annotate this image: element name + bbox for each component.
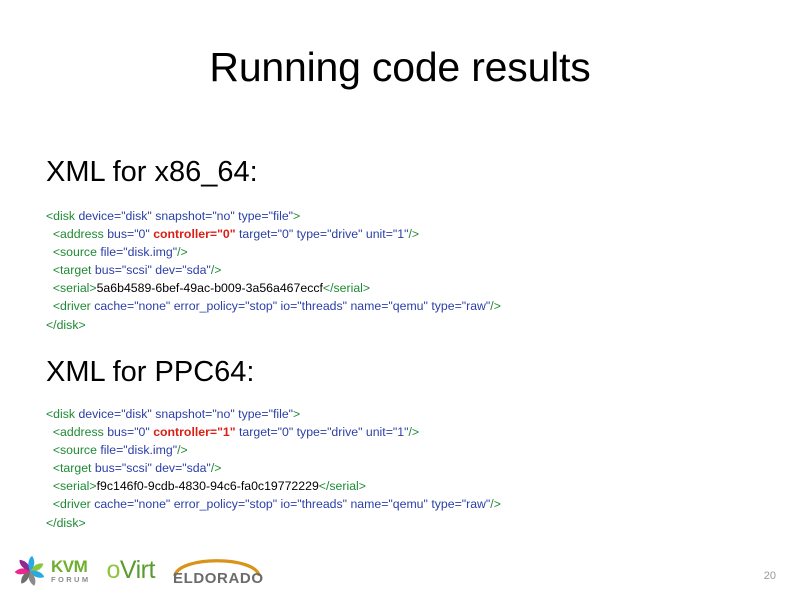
code-token-val: ="drive"	[320, 425, 366, 439]
ovirt-o-letter: o	[107, 556, 120, 584]
code-token-tag: <address	[46, 425, 107, 439]
code-token-tag: />	[490, 299, 501, 313]
kvm-forum-logo: KVM FORUM	[12, 553, 91, 589]
code-token-tag: />	[177, 443, 188, 457]
code-token-tag: <serial>	[46, 479, 97, 493]
code-token-tag: />	[408, 425, 419, 439]
code-token-attr: snapshot	[155, 209, 205, 223]
code-token-attr: name	[350, 299, 381, 313]
code-token-attr: bus	[107, 425, 127, 439]
code-token-attr: type	[238, 407, 261, 421]
code-token-attr: type	[297, 227, 320, 241]
code-token-val: ="0"	[127, 227, 153, 241]
eldorado-logo: ELDORADO	[171, 554, 263, 588]
forum-label: FORUM	[51, 576, 91, 584]
code-token-tag: </disk>	[46, 516, 86, 530]
code-token-attr: target	[239, 227, 270, 241]
code-line: </disk>	[46, 316, 501, 334]
kvm-label: KVM	[51, 558, 91, 575]
page-number: 20	[764, 570, 776, 582]
code-token-attr: file	[100, 245, 116, 259]
code-token-val: ="qemu"	[381, 497, 431, 511]
code-line: <source file="disk.img"/>	[46, 243, 501, 261]
code-line: <source file="disk.img"/>	[46, 441, 501, 459]
code-token-val: ="drive"	[320, 227, 366, 241]
code-token-tag: <driver	[46, 497, 94, 511]
code-line: <address bus="0" controller="1" target="…	[46, 423, 501, 441]
code-line: </disk>	[46, 514, 501, 532]
code-token-attr: type	[431, 299, 454, 313]
code-token-val: ="sda"	[175, 263, 211, 277]
code-token-val: ="disk"	[114, 407, 155, 421]
code-token-tag: />	[211, 263, 222, 277]
code-line: <target bus="scsi" dev="sda"/>	[46, 459, 501, 477]
code-token-val: ="sda"	[175, 461, 211, 475]
code-line: <address bus="0" controller="0" target="…	[46, 225, 501, 243]
code-token-attr: dev	[155, 461, 175, 475]
code-token-attr: unit	[366, 425, 386, 439]
code-token-val: ="none"	[127, 497, 174, 511]
code-token-attr: type	[431, 497, 454, 511]
code-line: <disk device="disk" snapshot="no" type="…	[46, 207, 501, 225]
code-token-attr: error_policy	[174, 497, 238, 511]
code-token-tag: <driver	[46, 299, 94, 313]
code-token-val: ="threads"	[290, 299, 350, 313]
section-heading-ppc64: XML for PPC64:	[46, 355, 254, 390]
code-token-val: ="none"	[127, 299, 174, 313]
code-token-val: ="threads"	[290, 497, 350, 511]
code-token-tag: >	[293, 209, 300, 223]
code-token-attr: device	[78, 209, 114, 223]
code-token-attr: type	[297, 425, 320, 439]
code-token-tag: <serial>	[46, 281, 97, 295]
code-token-tag: />	[408, 227, 419, 241]
code-token-tag: </serial>	[323, 281, 370, 295]
code-line: <target bus="scsi" dev="sda"/>	[46, 261, 501, 279]
code-token-attr: cache	[94, 497, 127, 511]
code-token-val: ="file"	[261, 209, 293, 223]
code-token-attr: snapshot	[155, 407, 205, 421]
code-token-tag: <source	[46, 245, 100, 259]
code-token-val: ="file"	[261, 407, 293, 421]
code-token-attr: bus	[95, 461, 115, 475]
code-token-tag: />	[177, 245, 188, 259]
code-token-val: ="raw"	[455, 299, 491, 313]
code-token-val: ="1"	[386, 227, 409, 241]
code-token-tag: </disk>	[46, 318, 86, 332]
code-token-val: ="no"	[205, 209, 238, 223]
code-token-val: ="disk"	[114, 209, 155, 223]
code-token-val: ="0"	[270, 227, 296, 241]
code-token-val: ="disk.img"	[116, 245, 177, 259]
ovirt-logo: oVirt	[107, 558, 155, 585]
code-token-val: ="1"	[386, 425, 409, 439]
code-token-attr: io	[281, 299, 291, 313]
slide-canvas: Running code results XML for x86_64: <di…	[0, 0, 800, 600]
code-token-val: ="0"	[270, 425, 296, 439]
footer-logo-strip: KVM FORUM oVirt ELDORADO	[12, 548, 263, 594]
code-token-hi: controller="1"	[153, 425, 235, 439]
code-token-tag: >	[293, 407, 300, 421]
code-token-val: ="scsi"	[115, 461, 156, 475]
eldorado-label: ELDORADO	[173, 571, 264, 586]
code-token-text: 5a6b4589-6bef-49ac-b009-3a56a467eccf	[97, 281, 323, 295]
code-token-attr: dev	[155, 263, 175, 277]
code-token-attr: type	[238, 209, 261, 223]
code-token-val: ="qemu"	[381, 299, 431, 313]
ovirt-virt-letters: Virt	[120, 556, 155, 584]
code-token-attr: device	[78, 407, 114, 421]
code-token-tag: <source	[46, 443, 100, 457]
code-block-x86-64: <disk device="disk" snapshot="no" type="…	[46, 207, 501, 334]
code-line: <driver cache="none" error_policy="stop"…	[46, 495, 501, 513]
code-block-ppc64: <disk device="disk" snapshot="no" type="…	[46, 405, 501, 532]
code-token-attr: file	[100, 443, 116, 457]
page-title: Running code results	[0, 44, 800, 91]
code-token-tag: />	[211, 461, 222, 475]
code-token-tag: />	[490, 497, 501, 511]
code-line: <driver cache="none" error_policy="stop"…	[46, 297, 501, 315]
code-token-val: ="stop"	[238, 497, 281, 511]
code-token-hi: controller="0"	[153, 227, 235, 241]
code-token-val: ="disk.img"	[116, 443, 177, 457]
code-token-tag: <disk	[46, 209, 78, 223]
code-token-attr: unit	[366, 227, 386, 241]
section-heading-x86-64: XML for x86_64:	[46, 155, 258, 190]
code-token-attr: error_policy	[174, 299, 238, 313]
code-token-attr: name	[350, 497, 381, 511]
code-token-attr: io	[281, 497, 291, 511]
code-token-tag: <target	[46, 461, 95, 475]
code-token-tag: <target	[46, 263, 95, 277]
code-token-val: ="no"	[205, 407, 238, 421]
code-line: <serial>5a6b4589-6bef-49ac-b009-3a56a467…	[46, 279, 501, 297]
kvm-pinwheel-icon	[12, 553, 48, 589]
code-token-tag: <address	[46, 227, 107, 241]
code-token-attr: bus	[95, 263, 115, 277]
code-token-attr: target	[239, 425, 270, 439]
code-token-tag: <disk	[46, 407, 78, 421]
kvm-forum-wordmark: KVM FORUM	[51, 558, 91, 584]
code-token-text: f9c146f0-9cdb-4830-94c6-fa0c19772229	[97, 479, 319, 493]
code-token-val: ="scsi"	[115, 263, 156, 277]
code-line: <disk device="disk" snapshot="no" type="…	[46, 405, 501, 423]
code-token-val: ="raw"	[455, 497, 491, 511]
code-token-attr: cache	[94, 299, 127, 313]
code-line: <serial>f9c146f0-9cdb-4830-94c6-fa0c1977…	[46, 477, 501, 495]
code-token-tag: </serial>	[319, 479, 366, 493]
code-token-val: ="0"	[127, 425, 153, 439]
code-token-val: ="stop"	[238, 299, 281, 313]
code-token-attr: bus	[107, 227, 127, 241]
